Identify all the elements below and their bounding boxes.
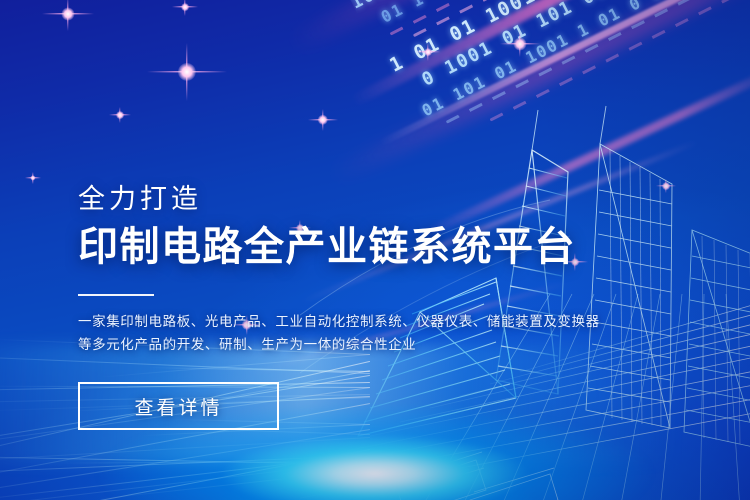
hero-headline: 印制电路全产业链系统平台 [78,227,678,267]
title-divider [78,294,154,296]
hero-banner: 01 1001 01 101 01 1001 1 0 011001 01 101… [0,0,750,500]
subtitle-line-1: 一家集印制电路板、光电产品、工业自动化控制系统、仪器仪表、储能装置及变换器 [78,310,678,333]
hero-content: 全力打造 印制电路全产业链系统平台 一家集印制电路板、光电产品、工业自动化控制系… [78,186,678,430]
view-details-button[interactable]: 查看详情 [78,382,279,430]
subtitle-line-2: 等多元化产品的开发、研制、生产为一体的综合性企业 [78,333,678,356]
hero-subtitle: 一家集印制电路板、光电产品、工业自动化控制系统、仪器仪表、储能装置及变换器 等多… [78,310,678,356]
hero-kicker: 全力打造 [78,186,678,213]
